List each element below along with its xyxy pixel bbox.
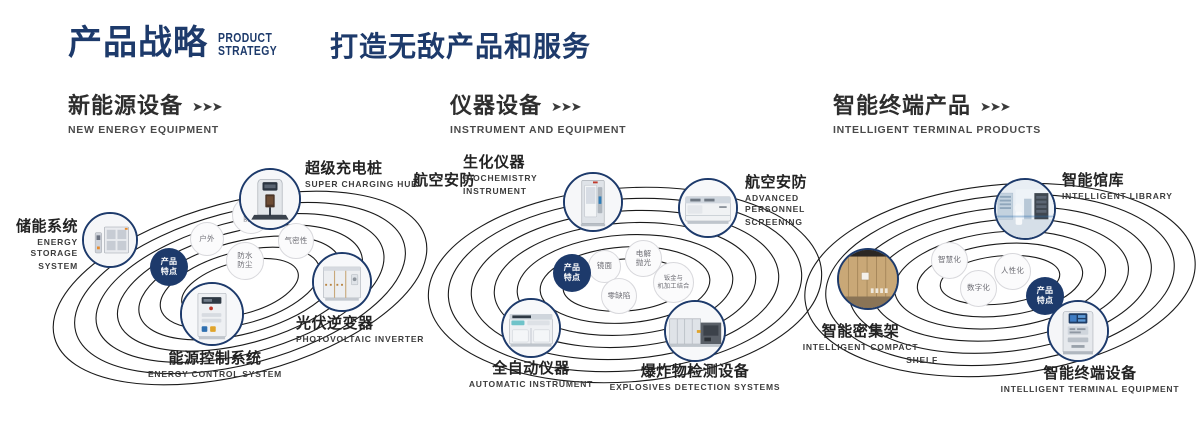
node-intelligent-terminal[interactable] — [1047, 300, 1109, 362]
explosives-detection-icon — [666, 302, 724, 360]
section-title-cn: 智能终端产品 — [833, 95, 971, 117]
product-feature-badge: 产品 特点 — [150, 248, 188, 286]
node-control-cabinet[interactable] — [180, 282, 244, 346]
node-label-cn: 能源控制系统 — [125, 350, 305, 367]
terminal-icon — [1049, 302, 1107, 360]
section-heading-new-energy: 新能源设备 ➤➤➤ NEW ENERGY EQUIPMENT — [68, 95, 222, 136]
node-label-cn: 爆炸物检测设备 — [605, 363, 785, 380]
node-label-en-1: BIOCHEMISTRY — [463, 173, 537, 184]
node-biochem-instrument[interactable] — [563, 172, 623, 232]
node-screening[interactable] — [678, 178, 738, 238]
node-pv-inverter[interactable] — [312, 252, 372, 312]
product-feature-badge: 产品 特点 — [553, 254, 591, 292]
feature-line1: 智慧化 — [938, 255, 961, 264]
energy-storage-icon — [84, 214, 136, 266]
node-label-cn: 光伏逆变器 — [296, 315, 424, 332]
badge-line1: 产品 — [161, 257, 178, 266]
feature-bubble: 钣金与 机加工结合 — [653, 262, 694, 303]
feature-bubble: 人性化 — [994, 253, 1031, 290]
page-title-en-line1: PRODUCT — [218, 31, 277, 44]
node-label-en-1: INTELLIGENT LIBRARY — [1062, 191, 1173, 202]
feature-line1: 钣金与 — [664, 275, 683, 282]
section-heading-intelligent: 智能终端产品 ➤➤➤ INTELLIGENT TERMINAL PRODUCTS — [833, 95, 1041, 136]
control-cabinet-icon — [182, 284, 242, 344]
feature-line2: 机加工结合 — [658, 283, 690, 290]
badge-line1: 产品 — [564, 263, 581, 272]
node-intelligent-library[interactable] — [994, 178, 1056, 240]
section-title-en: INTELLIGENT TERMINAL PRODUCTS — [833, 124, 1041, 136]
node-energy-storage[interactable] — [82, 212, 138, 268]
section-title-cn: 仪器设备 — [450, 95, 542, 117]
feature-line2: 防尘 — [237, 260, 252, 269]
page-title-en-line2: STRATEGY — [218, 44, 277, 57]
library-icon — [996, 180, 1054, 238]
node-label-en-1: PHOTOVOLTAIC INVERTER — [296, 334, 424, 345]
page-title-en: PRODUCT STRATEGY — [218, 31, 277, 61]
node-label-cn: 智能密集架 — [783, 323, 938, 340]
feature-line1: 零缺陷 — [607, 291, 630, 300]
label-control-cabinet: 能源控制系统 ENERGY CONTROL SYSTEM — [125, 350, 305, 380]
cluster-intelligent: 智慧化 数字化 人性化 产品 特点 — [800, 160, 1200, 410]
auto-instrument-icon — [503, 300, 559, 356]
feature-line1: 户外 — [199, 234, 214, 243]
badge-line1: 产品 — [1037, 286, 1054, 295]
node-explosives-detection[interactable] — [664, 300, 726, 362]
chevrons-icon: ➤➤➤ — [192, 100, 222, 113]
page-subtitle: 打造无敌产品和服务 — [330, 33, 591, 61]
badge-line2: 特点 — [161, 267, 178, 276]
node-auto-instrument[interactable] — [501, 298, 561, 358]
feature-bubble: 防水 防尘 — [226, 242, 264, 280]
node-label-cn: 超级充电桩 — [305, 160, 418, 177]
node-charging-hub[interactable] — [239, 168, 301, 230]
section-title-cn: 新能源设备 — [68, 95, 183, 117]
cluster-new-energy: 户外 防腐 防锈 防水 防尘 气密性 产品 特点 — [40, 160, 440, 410]
poster-canvas: 产品战略 PRODUCT STRATEGY 打造无敌产品和服务 新能源设备 ➤➤… — [0, 0, 1200, 422]
label-explosives-detection: 爆炸物检测设备 EXPLOSIVES DETECTION SYSTEMS — [605, 363, 785, 393]
feature-line1: 人性化 — [1001, 266, 1024, 275]
node-label-en-2: SHELF — [783, 355, 938, 366]
node-label-cn: 智能馆库 — [1062, 172, 1173, 189]
page-title: 产品战略 — [68, 26, 208, 60]
label-compact-shelf: 智能密集架 INTELLIGENT COMPACT SHELF — [783, 323, 938, 366]
node-label-en-2: INSTRUMENT — [463, 186, 537, 197]
node-label-en-1: ENERGY STORAGE — [4, 237, 78, 258]
compact-shelf-icon — [839, 250, 897, 308]
label-energy-storage: 储能系统 ENERGY STORAGE SYSTEM — [4, 218, 78, 271]
section-title-en: INSTRUMENT AND EQUIPMENT — [450, 124, 626, 136]
cluster-instrument: 镜面 电解 抛光 钣金与 机加工结合 零缺陷 产品 特点 航空安防 — [425, 160, 825, 410]
feature-bubble: 智慧化 — [931, 242, 968, 279]
poster-header: 产品战略 PRODUCT STRATEGY — [68, 26, 292, 60]
label-pv-inverter: 光伏逆变器 PHOTOVOLTAIC INVERTER — [296, 315, 424, 345]
chevrons-icon: ➤➤➤ — [980, 100, 1010, 113]
node-label-en-2: SYSTEM — [4, 261, 78, 272]
feature-line1: 气密性 — [284, 236, 307, 245]
label-charging-hub: 超级充电桩 SUPER CHARGING HUB — [305, 160, 418, 190]
node-label-cn: 智能终端设备 — [990, 365, 1190, 382]
pv-inverter-icon — [314, 254, 370, 310]
feature-line1: 电解 — [636, 249, 651, 258]
feature-bubble: 气密性 — [278, 223, 314, 259]
feature-line1: 镜面 — [597, 261, 612, 270]
feature-line1: 数字化 — [967, 283, 990, 292]
node-label-cn: 全自动仪器 — [441, 360, 621, 377]
node-label-en-1: SUPER CHARGING HUB — [305, 179, 418, 190]
feature-line2: 抛光 — [636, 258, 651, 267]
screening-icon — [680, 180, 736, 236]
node-label-en-1: EXPLOSIVES DETECTION SYSTEMS — [605, 382, 785, 393]
feature-bubble: 户外 — [190, 222, 224, 256]
node-compact-shelf[interactable] — [837, 248, 899, 310]
chevrons-icon: ➤➤➤ — [551, 100, 581, 113]
feature-bubble: 数字化 — [960, 270, 997, 307]
node-label-en-1: AUTOMATIC INSTRUMENT — [441, 379, 621, 390]
feature-bubble: 零缺陷 — [601, 278, 637, 314]
label-auto-instrument: 全自动仪器 AUTOMATIC INSTRUMENT — [441, 360, 621, 390]
node-label-cn: 生化仪器 — [463, 154, 537, 171]
node-label-cn: 储能系统 — [4, 218, 78, 235]
section-title-en: NEW ENERGY EQUIPMENT — [68, 124, 222, 136]
label-intelligent-library: 智能馆库 INTELLIGENT LIBRARY — [1062, 172, 1173, 202]
node-label-en-1: ENERGY CONTROL SYSTEM — [125, 369, 305, 380]
charging-hub-icon — [241, 170, 299, 228]
node-label-en-1: INTELLIGENT COMPACT — [783, 342, 938, 353]
biochem-instrument-icon — [565, 174, 621, 230]
badge-line2: 特点 — [564, 273, 581, 282]
label-intelligent-terminal: 智能终端设备 INTELLIGENT TERMINAL EQUIPMENT — [990, 365, 1190, 395]
section-heading-instrument: 仪器设备 ➤➤➤ INSTRUMENT AND EQUIPMENT — [450, 95, 626, 136]
label-biochem-instrument: 生化仪器 BIOCHEMISTRY INSTRUMENT — [463, 154, 537, 197]
feature-line1: 防水 — [237, 251, 252, 260]
node-label-en-1: INTELLIGENT TERMINAL EQUIPMENT — [990, 384, 1190, 395]
